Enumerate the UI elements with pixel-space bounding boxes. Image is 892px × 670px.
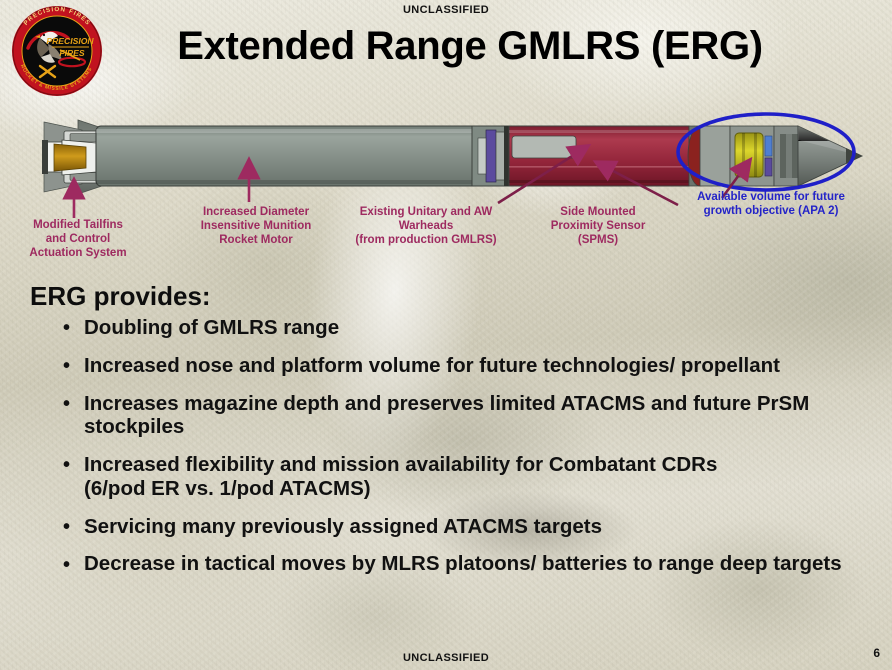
bullet-item: •Servicing many previously assigned ATAC… bbox=[58, 515, 878, 539]
erg-provides-heading: ERG provides: bbox=[30, 281, 211, 312]
bullet-dot-icon: • bbox=[63, 554, 70, 577]
callout-label-spms: Side Mounted Proximity Sensor (SPMS) bbox=[528, 205, 668, 247]
bullet-item: •Increased flexibility and mission avail… bbox=[58, 453, 878, 501]
bullet-dot-icon: • bbox=[63, 317, 70, 340]
svg-text:FIRES: FIRES bbox=[59, 48, 85, 58]
bullet-dot-icon: • bbox=[63, 355, 70, 378]
rocket-motor-body bbox=[96, 126, 496, 186]
bullet-dot-icon: • bbox=[63, 516, 70, 539]
bullet-item: •Increases magazine depth and preserves … bbox=[58, 392, 878, 440]
bullet-text: Increased nose and platform volume for f… bbox=[84, 354, 780, 377]
bullet-dot-icon: • bbox=[63, 454, 70, 477]
classification-banner-top: UNCLASSIFIED bbox=[0, 4, 892, 16]
callout-label-rocket-motor: Increased Diameter Insensitive Munition … bbox=[178, 205, 334, 247]
callout-label-tailfins: Modified Tailfins and Control Actuation … bbox=[8, 218, 148, 260]
bullet-text: Servicing many previously assigned ATACM… bbox=[84, 515, 602, 538]
bullet-text: Doubling of GMLRS range bbox=[84, 316, 339, 339]
benefits-bullet-list: •Doubling of GMLRS range•Increased nose … bbox=[58, 316, 878, 590]
warhead-interface-section bbox=[472, 126, 512, 186]
bullet-text: Increased flexibility and mission availa… bbox=[84, 453, 717, 500]
callout-label-warheads: Existing Unitary and AW Warheads (from p… bbox=[333, 205, 519, 247]
bullet-item: •Doubling of GMLRS range bbox=[58, 316, 878, 340]
warhead-maroon-section bbox=[509, 126, 689, 186]
classification-banner-bottom: UNCLASSIFIED bbox=[0, 652, 892, 664]
precision-fires-emblem-icon: PRECISION FIRES ROCKET & MISSILE SYSTEMS… bbox=[10, 4, 104, 98]
bullet-text: Increases magazine depth and preserves l… bbox=[84, 392, 809, 439]
bullet-item: •Decrease in tactical moves by MLRS plat… bbox=[58, 552, 878, 576]
bullet-item: •Increased nose and platform volume for … bbox=[58, 354, 878, 378]
slide-canvas: UNCLASSIFIED PRECISION FIRES ROCKET & MI… bbox=[0, 0, 892, 670]
page-number: 6 bbox=[873, 646, 880, 660]
page-title: Extended Range GMLRS (ERG) bbox=[120, 26, 820, 66]
bullet-text: Decrease in tactical moves by MLRS plato… bbox=[84, 552, 842, 575]
callout-label-apa2: Available volume for future growth objec… bbox=[683, 190, 859, 218]
svg-text:PRECISION: PRECISION bbox=[46, 36, 94, 46]
bullet-dot-icon: • bbox=[63, 393, 70, 416]
